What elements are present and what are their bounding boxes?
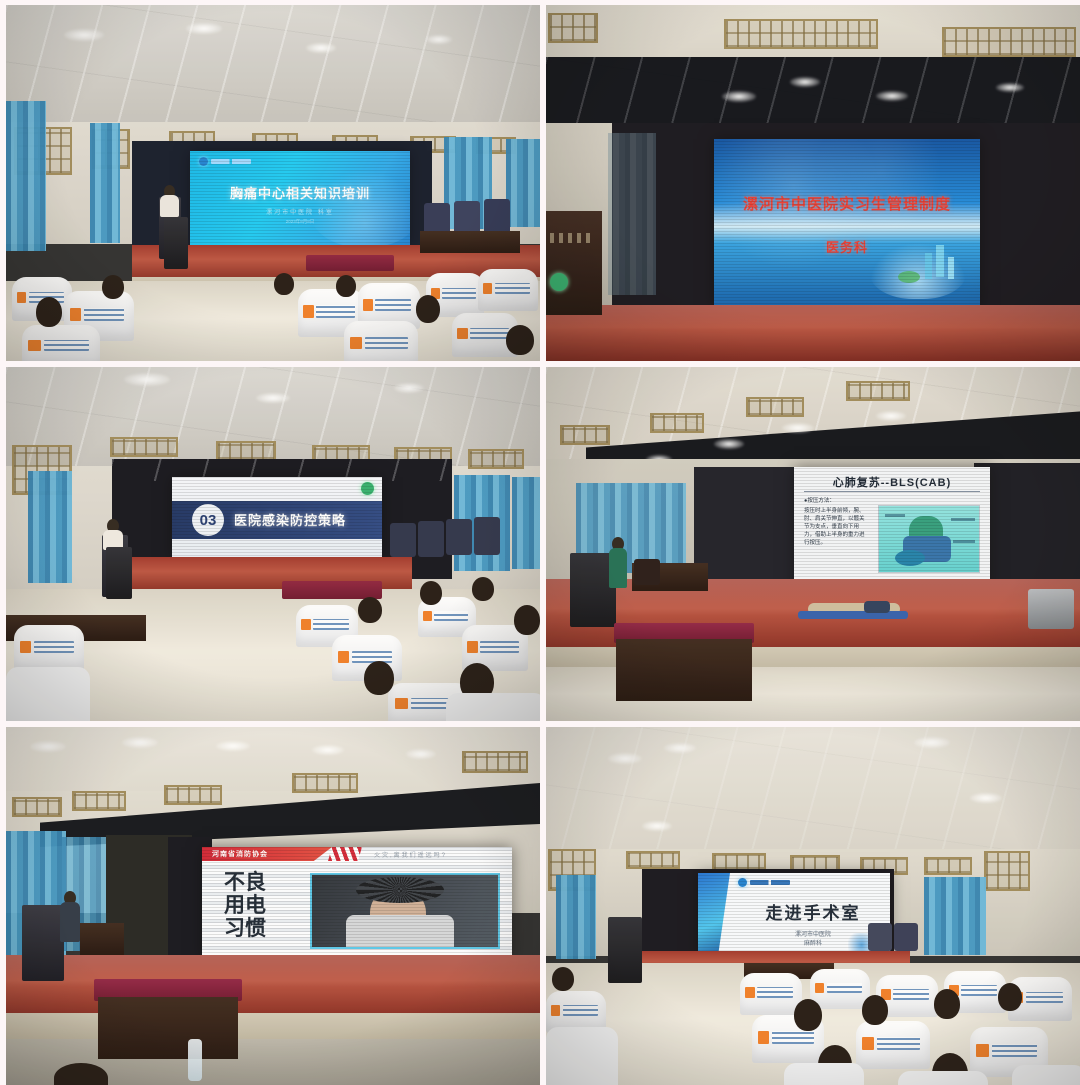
- green-circle-logo-icon: [361, 482, 374, 495]
- photo-5-led-screen: 河南省消防协会 火灾,离我们遥远吗? 不良用电习惯: [202, 847, 512, 959]
- photo-4-cpr-bls: 心肺复苏--BLS(CAB) ●按压方法： 按压时上半身前倾，腕、肘、肩关节伸直…: [546, 367, 1080, 721]
- photo-5-slide-header: 河南省消防协会: [212, 849, 268, 859]
- photo-5-slide-header-right: 火灾,离我们遥远吗?: [374, 850, 447, 859]
- green-circle-logo-icon: [550, 273, 568, 291]
- seat-cover: [344, 321, 418, 361]
- photo-2-podium: [546, 211, 602, 315]
- seat-cover: [810, 969, 870, 1009]
- seat-cover: [14, 625, 84, 671]
- photo-1-chest-pain-training: 胸痛中心相关知识培训 漯河市中医院 科室 2023年8月8日: [6, 5, 540, 361]
- photo-2-intern-management: 漯河市中医院实习生管理制度 医务科: [546, 5, 1080, 361]
- photo-6-operating-room: 走进手术室 漯河市中医院 麻醉科: [546, 727, 1080, 1085]
- photo-3-section-badge: 03: [192, 504, 224, 536]
- photo-1-led-screen: 胸痛中心相关知识培训 漯河市中医院 科室 2023年8月8日: [190, 151, 410, 246]
- audience-person: [514, 605, 540, 635]
- photo-collage: 胸痛中心相关知识培训 漯河市中医院 科室 2023年8月8日: [0, 0, 1080, 1080]
- photo-4-slide-bullet: ●按压方法：: [804, 496, 835, 504]
- audience-person: [552, 967, 574, 991]
- photo-4-slide-figure: [878, 505, 980, 573]
- audience-person: [36, 297, 62, 327]
- seat-cover: [22, 325, 100, 361]
- photo-2-led-screen: 漯河市中医院实习生管理制度 医务科: [714, 139, 980, 307]
- photo-5-slide-title: 不良用电习惯: [224, 871, 280, 940]
- hospital-logo-icon: [738, 878, 790, 887]
- audience-person: [358, 597, 382, 623]
- audience-person: [472, 577, 494, 601]
- audience-person: [274, 273, 294, 295]
- audience-person: [506, 325, 534, 355]
- audience-person: [420, 581, 442, 605]
- audience-person: [998, 983, 1022, 1011]
- audience-person: [102, 275, 124, 299]
- photo-4-slide-body: 按压时上半身前倾，腕、肘、肩关节伸直，以髋关节为支点，垂直向下用力，借助上半身的…: [804, 507, 866, 547]
- photo-6-led-screen: 走进手术室 漯河市中医院 麻醉科: [698, 873, 890, 957]
- photo-4-slide-title: 心肺复苏--BLS(CAB): [794, 474, 990, 490]
- photo-6-slide-title: 走进手术室: [742, 899, 884, 924]
- audience-person: [364, 661, 394, 695]
- water-bottle: [188, 1039, 202, 1081]
- photo-4-led-screen: 心肺复苏--BLS(CAB) ●按压方法： 按压时上半身前倾，腕、肘、肩关节伸直…: [794, 467, 990, 589]
- audience-person: [794, 999, 822, 1031]
- photo-5-slide-photo: [310, 873, 500, 949]
- hospital-logo-icon: [199, 157, 251, 166]
- seat-cover: [856, 1021, 930, 1069]
- audience-person: [862, 995, 888, 1025]
- seat-cover: [740, 973, 802, 1015]
- foreground-person: [54, 1063, 108, 1085]
- audience-person: [934, 989, 960, 1019]
- audience-person: [416, 295, 440, 323]
- audience-person: [336, 275, 356, 297]
- photo-5-electrical-safety: 河南省消防协会 火灾,离我们遥远吗? 不良用电习惯: [6, 727, 540, 1085]
- photo-3-led-screen: 03 医院感染防控策略: [172, 477, 382, 559]
- seat-cover: [478, 269, 538, 311]
- photo-5-podium: [22, 905, 64, 981]
- photo-3-infection-control: 03 医院感染防控策略: [6, 367, 540, 721]
- photo-3-slide-title: 医院感染防控策略: [234, 510, 374, 529]
- photo-2-slide-title: 漯河市中医院实习生管理制度: [714, 193, 980, 214]
